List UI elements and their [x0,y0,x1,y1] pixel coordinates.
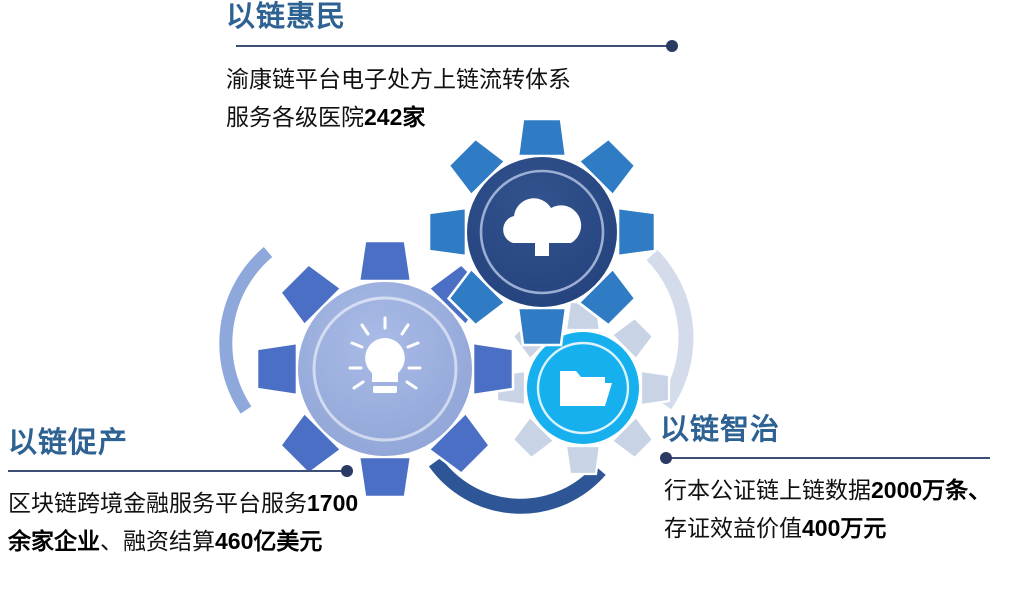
lightbulb-gear-inner-ring [314,298,456,440]
line-highlight-b: 460亿美元 [215,528,322,554]
callout-bottom-left-line-1: 区块链跨境金融服务平台服务1700 [8,485,428,522]
line-highlight: 400万元 [802,515,886,541]
callout-bottom-right-body: 行本公证链上链数据2000万条、 存证效益价值400万元 [660,472,1024,547]
rule-dot [666,40,678,52]
line-text: 区块链跨境金融服务平台服务 [8,490,307,516]
callout-bottom-left-body: 区块链跨境金融服务平台服务1700 余家企业、融资结算460亿美元 [8,485,428,560]
decorative-arc-right [652,255,686,405]
line-highlight: 2000万条、 [871,477,991,503]
lightbulb-icon [350,318,420,393]
folder-gear-hub [527,332,639,444]
line-text: 、融资结算 [100,528,215,554]
callout-top-left-line-1: 渝康链平台电子处方上链流转体系 [226,61,696,98]
cloud-gear-inner-ring [481,171,603,293]
callout-bottom-left-line-2: 余家企业、融资结算460亿美元 [8,523,428,560]
line-text: 存证效益价值 [664,515,802,541]
callout-top-left-body: 渝康链平台电子处方上链流转体系 服务各级医院242家 [226,61,696,136]
callout-bottom-right-rule [660,452,990,464]
line-text: 渝康链平台电子处方上链流转体系 [226,66,571,92]
rule-line [8,470,347,472]
folder-gear [497,302,669,474]
callout-bottom-left: 以链促产 区块链跨境金融服务平台服务1700 余家企业、融资结算460亿美元 [8,428,428,560]
line-text: 服务各级医院 [226,104,364,130]
cloud-gear-teeth [429,119,655,345]
line-text: 行本公证链上链数据 [664,477,871,503]
line-highlight: 1700 [307,490,358,516]
callout-bottom-left-rule [8,465,353,477]
cloud-gear [429,119,655,345]
callout-bottom-left-heading: 以链促产 [8,428,428,458]
decorative-arc-left [226,252,268,410]
line-highlight: 242家 [364,104,425,130]
cloud-upload-icon [503,198,581,256]
callout-top-left-line-2: 服务各级医院242家 [226,99,696,136]
cloud-gear-hub [467,157,617,307]
rule-line [236,45,670,47]
line-highlight-a: 余家企业 [8,528,100,554]
infographic-canvas: 以链惠民 渝康链平台电子处方上链流转体系 服务各级医院242家 以链促产 区块链… [0,0,1024,605]
callout-bottom-right: 以链智治 行本公证链上链数据2000万条、 存证效益价值400万元 [660,415,1024,547]
rule-dot [660,452,672,464]
callout-bottom-right-line-2: 存证效益价值400万元 [664,510,1024,547]
callout-bottom-right-heading: 以链智治 [660,415,1024,445]
folder-gear-teeth [497,302,669,474]
rule-dot [341,465,353,477]
callout-top-left-rule [236,40,678,52]
callout-top-left: 以链惠民 渝康链平台电子处方上链流转体系 服务各级医院242家 [226,2,696,136]
callout-bottom-right-line-1: 行本公证链上链数据2000万条、 [664,472,1024,509]
rule-line [668,457,990,459]
callout-top-left-heading: 以链惠民 [226,2,696,32]
decorative-arc-bottom [435,462,600,506]
folder-icon [560,371,612,406]
folder-gear-inner-ring [538,343,628,433]
